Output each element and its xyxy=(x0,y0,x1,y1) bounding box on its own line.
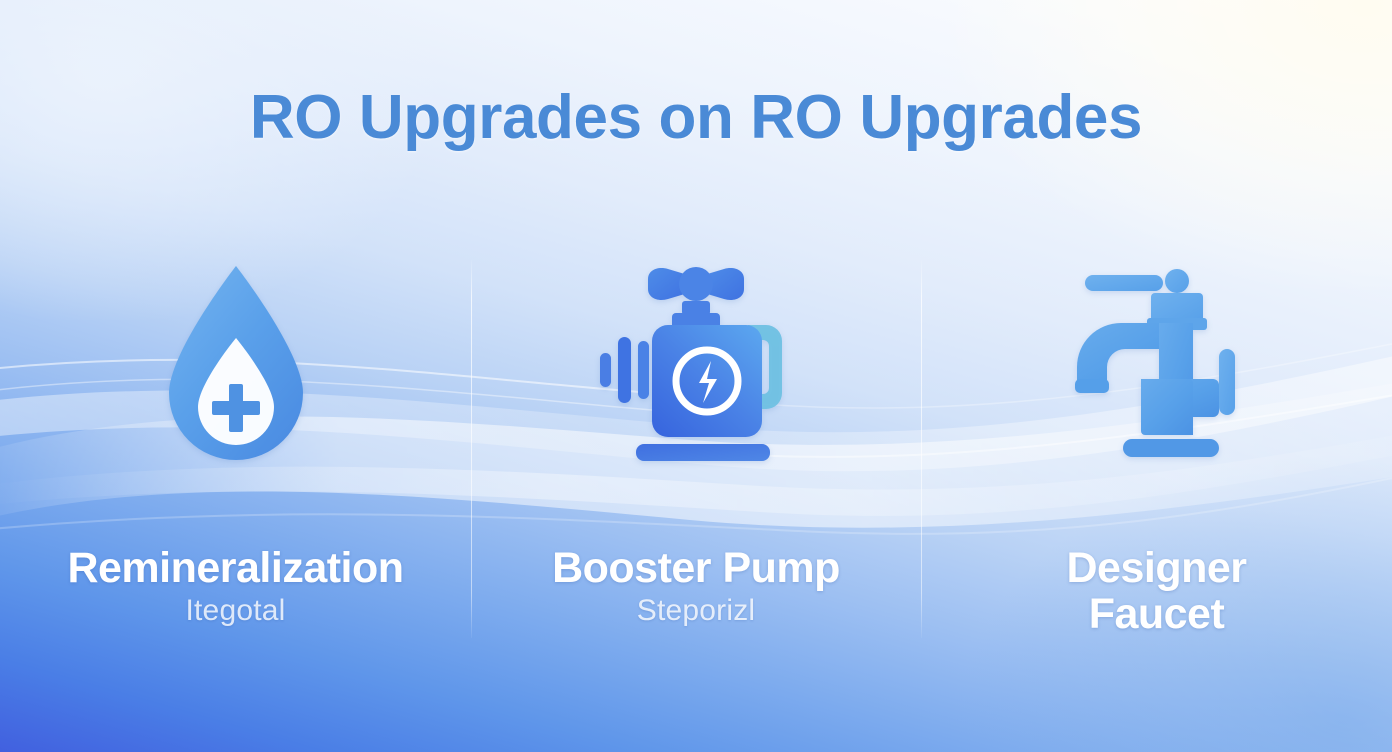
booster-pump-icon xyxy=(596,250,796,480)
feature-column-booster-pump[interactable]: Booster Pump Steporizl xyxy=(471,250,921,670)
poster-canvas: RO Upgrades on RO Upgrades xyxy=(0,0,1392,752)
feature-subtitle-remineralization: Itegotal xyxy=(67,594,403,628)
feature-labels-remineralization: Remineralization Itegotal xyxy=(67,546,403,628)
feature-subtitle-booster-pump: Steporizl xyxy=(552,594,840,628)
feature-column-remineralization[interactable]: Remineralization Itegotal xyxy=(0,250,471,670)
page-title: RO Upgrades on RO Upgrades xyxy=(0,82,1392,153)
feature-labels-booster-pump: Booster Pump Steporizl xyxy=(552,546,840,628)
feature-title-remineralization: Remineralization xyxy=(67,546,403,592)
water-drop-plus-icon xyxy=(151,250,321,480)
feature-title-designer-faucet: Designer Faucet xyxy=(1027,546,1287,637)
feature-columns: Remineralization Itegotal xyxy=(0,250,1392,670)
feature-column-designer-faucet[interactable]: Designer Faucet xyxy=(921,250,1392,670)
faucet-icon xyxy=(1067,250,1247,480)
feature-title-booster-pump: Booster Pump xyxy=(552,546,840,592)
feature-labels-designer-faucet: Designer Faucet xyxy=(1027,546,1287,637)
